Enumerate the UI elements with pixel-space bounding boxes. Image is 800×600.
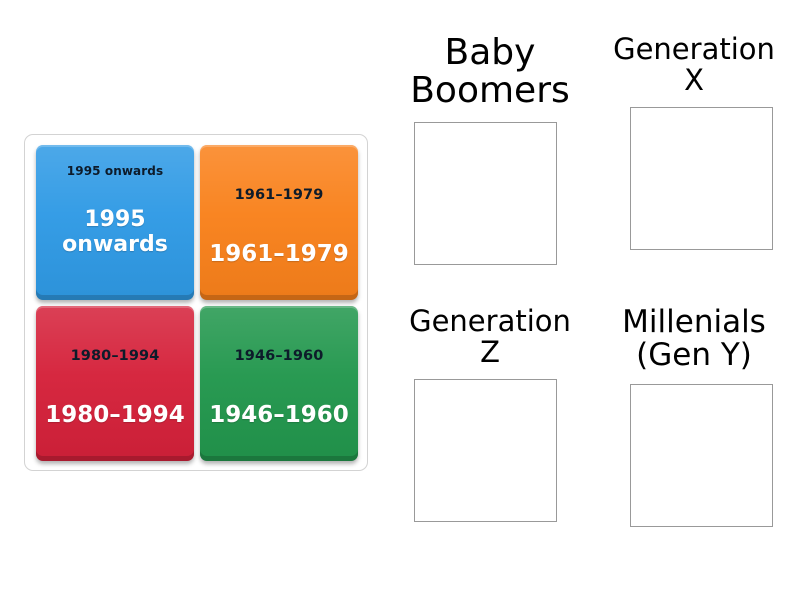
draggable-tile-1980-1994[interactable]: 1980–1994 1980–1994 bbox=[36, 306, 194, 461]
dropzone-generation-z: Generation Z bbox=[400, 306, 580, 522]
tile-main-text: 1980–1994 bbox=[40, 402, 190, 428]
tile-caption: 1995 onwards bbox=[42, 165, 188, 179]
tile-main-text: 1946–1960 bbox=[204, 402, 354, 428]
dropzone-generation-x: Generation X bbox=[604, 34, 784, 250]
dropzone-label: Generation X bbox=[604, 34, 784, 95]
draggable-tile-1995-onwards[interactable]: 1995 onwards 1995 onwards bbox=[36, 145, 194, 300]
tile-main-text: 1961–1979 bbox=[204, 241, 354, 267]
dropzone-target-baby-boomers[interactable] bbox=[414, 122, 557, 265]
dropzone-target-generation-z[interactable] bbox=[414, 379, 557, 522]
tile-caption: 1946–1960 bbox=[206, 348, 352, 365]
tile-main-text: 1995 onwards bbox=[40, 207, 190, 257]
tile-grid: 1995 onwards 1995 onwards 1961–1979 1961… bbox=[36, 145, 358, 461]
dropzone-label: Baby Boomers bbox=[400, 34, 580, 110]
dropzone-label: Generation Z bbox=[400, 306, 580, 367]
tile-caption: 1980–1994 bbox=[42, 348, 188, 365]
draggable-tile-1946-1960[interactable]: 1946–1960 1946–1960 bbox=[200, 306, 358, 461]
dropzone-area: Baby Boomers Generation X Generation Z M… bbox=[392, 0, 800, 600]
dropzone-baby-boomers: Baby Boomers bbox=[400, 34, 580, 265]
dropzone-millenials: Millenials (Gen Y) bbox=[604, 306, 784, 527]
dropzone-label: Millenials (Gen Y) bbox=[604, 306, 784, 372]
draggable-tile-1961-1979[interactable]: 1961–1979 1961–1979 bbox=[200, 145, 358, 300]
dropzone-target-generation-x[interactable] bbox=[630, 107, 773, 250]
tile-tray-container: 1995 onwards 1995 onwards 1961–1979 1961… bbox=[24, 134, 368, 471]
dropzone-target-millenials[interactable] bbox=[630, 384, 773, 527]
tile-caption: 1961–1979 bbox=[206, 187, 352, 204]
